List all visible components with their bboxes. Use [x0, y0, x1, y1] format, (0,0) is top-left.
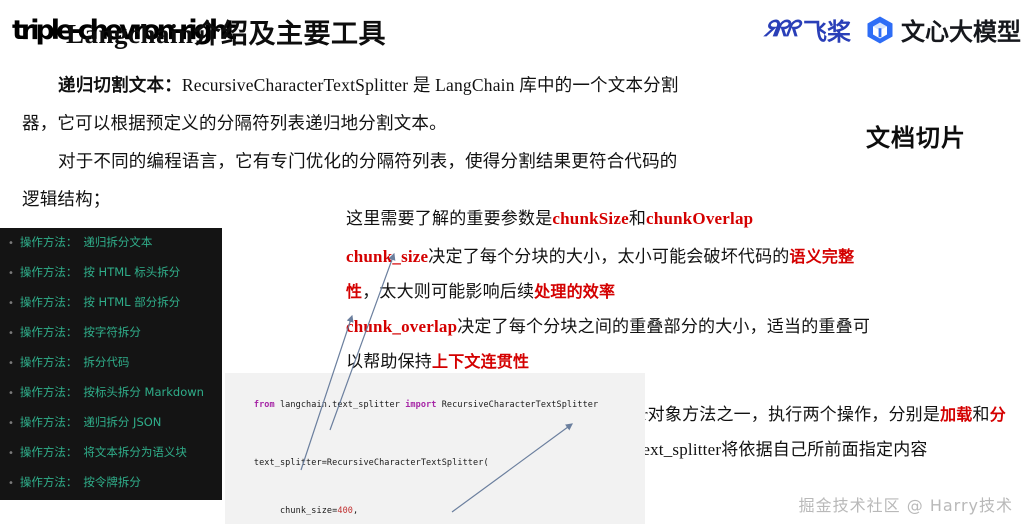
annotation-text: ，太大则可能影响后续 — [362, 282, 534, 301]
method-value: 递归拆分文本 — [83, 234, 152, 250]
code-text: text_splitter=RecursiveCharacterTextSpli… — [254, 458, 489, 468]
list-item[interactable]: • 操作方法： 拆分代码 — [8, 354, 222, 384]
method-value: 按标头拆分 Markdown — [83, 384, 204, 400]
method-value: 按字符拆分 — [83, 324, 141, 340]
method-label: 操作方法： — [20, 474, 78, 490]
list-item[interactable]: • 操作方法： 按标头拆分 Markdown — [8, 384, 222, 414]
ernie-logo-label: 文心大模型 — [901, 12, 1021, 47]
method-value: 将文本拆分为语义块 — [83, 444, 187, 460]
code-blank-line — [233, 429, 645, 439]
code-panel: from langchain.text_splitter import Recu… — [225, 373, 645, 524]
annotation-loader-line-1: loader对象方法之一，执行两个操作，分别是加载和分 — [604, 400, 1006, 425]
annotation-text: ，text_splitter将依据自己所前面指定内容 — [620, 440, 927, 459]
list-item[interactable]: • 操作方法： 递归拆分文本 — [8, 234, 222, 264]
code-number: 400 — [337, 506, 353, 516]
bullet-icon: • — [8, 479, 14, 489]
code-keyword: import — [405, 400, 436, 410]
method-label: 操作方法： — [20, 444, 78, 460]
code-line: chunk_size=400, — [233, 487, 645, 524]
highlight-context-continuity: 上下文连贯性 — [432, 352, 529, 371]
highlight-semantic-integrity: 语义完整 — [790, 247, 855, 266]
code-line: text_splitter=RecursiveCharacterTextSpli… — [233, 439, 645, 487]
intro-line-2: 器，它可以根据预定义的分隔符列表递归地分割文本。 — [22, 110, 447, 135]
highlight-processing-efficiency: 处理的效率 — [534, 282, 615, 301]
list-item[interactable]: • 操作方法： 递归拆分 JSON — [8, 414, 222, 444]
bullet-icon: • — [8, 239, 14, 249]
param-chunkoverlap-label: chunkOverlap — [646, 209, 753, 228]
intro-line-1: 递归切割文本：RecursiveCharacterTextSplitter 是 … — [58, 72, 679, 97]
bullet-icon: • — [8, 329, 14, 339]
chunk-size-term: chunk_size — [346, 247, 428, 266]
code-text: langchain.text_splitter — [275, 400, 405, 410]
intro-line-1-bold: 递归切割文本： — [58, 75, 182, 95]
list-item[interactable]: • 操作方法： 按字符拆分 — [8, 324, 222, 354]
annotation-params-intro: 这里需要了解的重要参数是chunkSize和chunkOverlap — [346, 204, 753, 229]
annotation-conjunction: 和 — [629, 209, 646, 228]
methods-panel: • 操作方法： 递归拆分文本 • 操作方法： 按 HTML 标头拆分 • 操作方… — [0, 228, 222, 500]
bullet-icon: • — [8, 389, 14, 399]
list-item[interactable]: • 操作方法： 按 HTML 部分拆分 — [8, 294, 222, 324]
watermark: 掘金技术社区 @ Harry技术 — [799, 492, 1013, 516]
method-label: 操作方法： — [20, 264, 78, 280]
annotation-text: 决定了每个分块之间的重叠部分的大小，适当的重叠可 — [457, 317, 870, 336]
doc-slice-heading: 文档切片 — [866, 118, 966, 153]
chunk-overlap-term: chunk_overlap — [346, 317, 457, 336]
brand-logos: ᖆᖇᖇ 飞桨 文心大模型 — [764, 12, 1021, 47]
method-label: 操作方法： — [20, 324, 78, 340]
list-item[interactable]: • 操作方法： 按 HTML 标头拆分 — [8, 264, 222, 294]
list-item[interactable]: • 操作方法： 按令牌拆分 — [8, 474, 222, 504]
annotation-text: loader对象方法之一，执行两个操作，分别是 — [604, 405, 940, 424]
slide-header: triple-chevron-right Langchain介绍及主要工具 ᖆᖇ… — [0, 0, 1035, 58]
paddlepaddle-logo: ᖆᖇᖇ 飞桨 — [764, 12, 851, 47]
paddle-logo-label: 飞桨 — [803, 12, 851, 47]
bullet-icon: • — [8, 299, 14, 309]
hexagon-cube-icon — [865, 15, 895, 45]
intro-line-4: 逻辑结构； — [22, 186, 111, 211]
page-title: Langchain介绍及主要工具 — [66, 12, 386, 51]
annotation-text: 决定了每个分块的大小，太小可能会破坏代码的 — [428, 247, 789, 266]
paddle-glyph-icon: ᖆᖇᖇ — [762, 17, 799, 42]
code-text: RecursiveCharacterTextSplitter — [437, 400, 599, 410]
method-value: 递归拆分 JSON — [83, 414, 161, 430]
method-label: 操作方法： — [20, 234, 78, 250]
bullet-icon: • — [8, 269, 14, 279]
highlight-load: 加载 — [940, 405, 972, 424]
method-label: 操作方法： — [20, 384, 78, 400]
annotation-chunk-size-line-1: chunk_size决定了每个分块的大小，太小可能会破坏代码的语义完整 — [346, 242, 854, 267]
method-value: 按 HTML 部分拆分 — [83, 294, 180, 310]
code-text: chunk_size= — [254, 506, 337, 516]
annotation-conjunction: 和 — [972, 405, 989, 424]
code-text: , — [353, 506, 358, 516]
param-chunksize-label: chunkSize — [552, 209, 628, 228]
highlight-split-part1: 分 — [990, 405, 1006, 424]
code-keyword: from — [254, 400, 275, 410]
method-value: 拆分代码 — [83, 354, 129, 370]
bullet-icon: • — [8, 359, 14, 369]
method-label: 操作方法： — [20, 414, 78, 430]
highlight-semantic-integrity-cont: 性 — [346, 282, 362, 301]
annotation-loader-line-2: 割，text_splitter将依据自己所前面指定内容 — [604, 435, 928, 460]
intro-line-1-rest: RecursiveCharacterTextSplitter 是 LangCha… — [182, 75, 679, 95]
ernie-logo: 文心大模型 — [865, 12, 1021, 47]
bullet-icon: • — [8, 419, 14, 429]
annotation-text: 这里需要了解的重要参数是 — [346, 209, 552, 228]
list-item[interactable]: • 操作方法： 将文本拆分为语义块 — [8, 444, 222, 474]
annotation-chunk-overlap-line-2: 以帮助保持上下文连贯性 — [346, 347, 529, 372]
code-line: from langchain.text_splitter import Recu… — [233, 381, 645, 429]
bullet-icon: • — [8, 449, 14, 459]
method-label: 操作方法： — [20, 354, 78, 370]
annotation-text: 以帮助保持 — [346, 352, 432, 371]
annotation-chunk-size-line-2: 性，太大则可能影响后续处理的效率 — [346, 277, 615, 302]
method-label: 操作方法： — [20, 294, 78, 310]
intro-line-3: 对于不同的编程语言，它有专门优化的分隔符列表，使得分割结果更符合代码的 — [58, 148, 678, 173]
method-value: 按令牌拆分 — [83, 474, 141, 490]
method-value: 按 HTML 标头拆分 — [83, 264, 180, 280]
annotation-chunk-overlap-line-1: chunk_overlap决定了每个分块之间的重叠部分的大小，适当的重叠可 — [346, 312, 870, 337]
